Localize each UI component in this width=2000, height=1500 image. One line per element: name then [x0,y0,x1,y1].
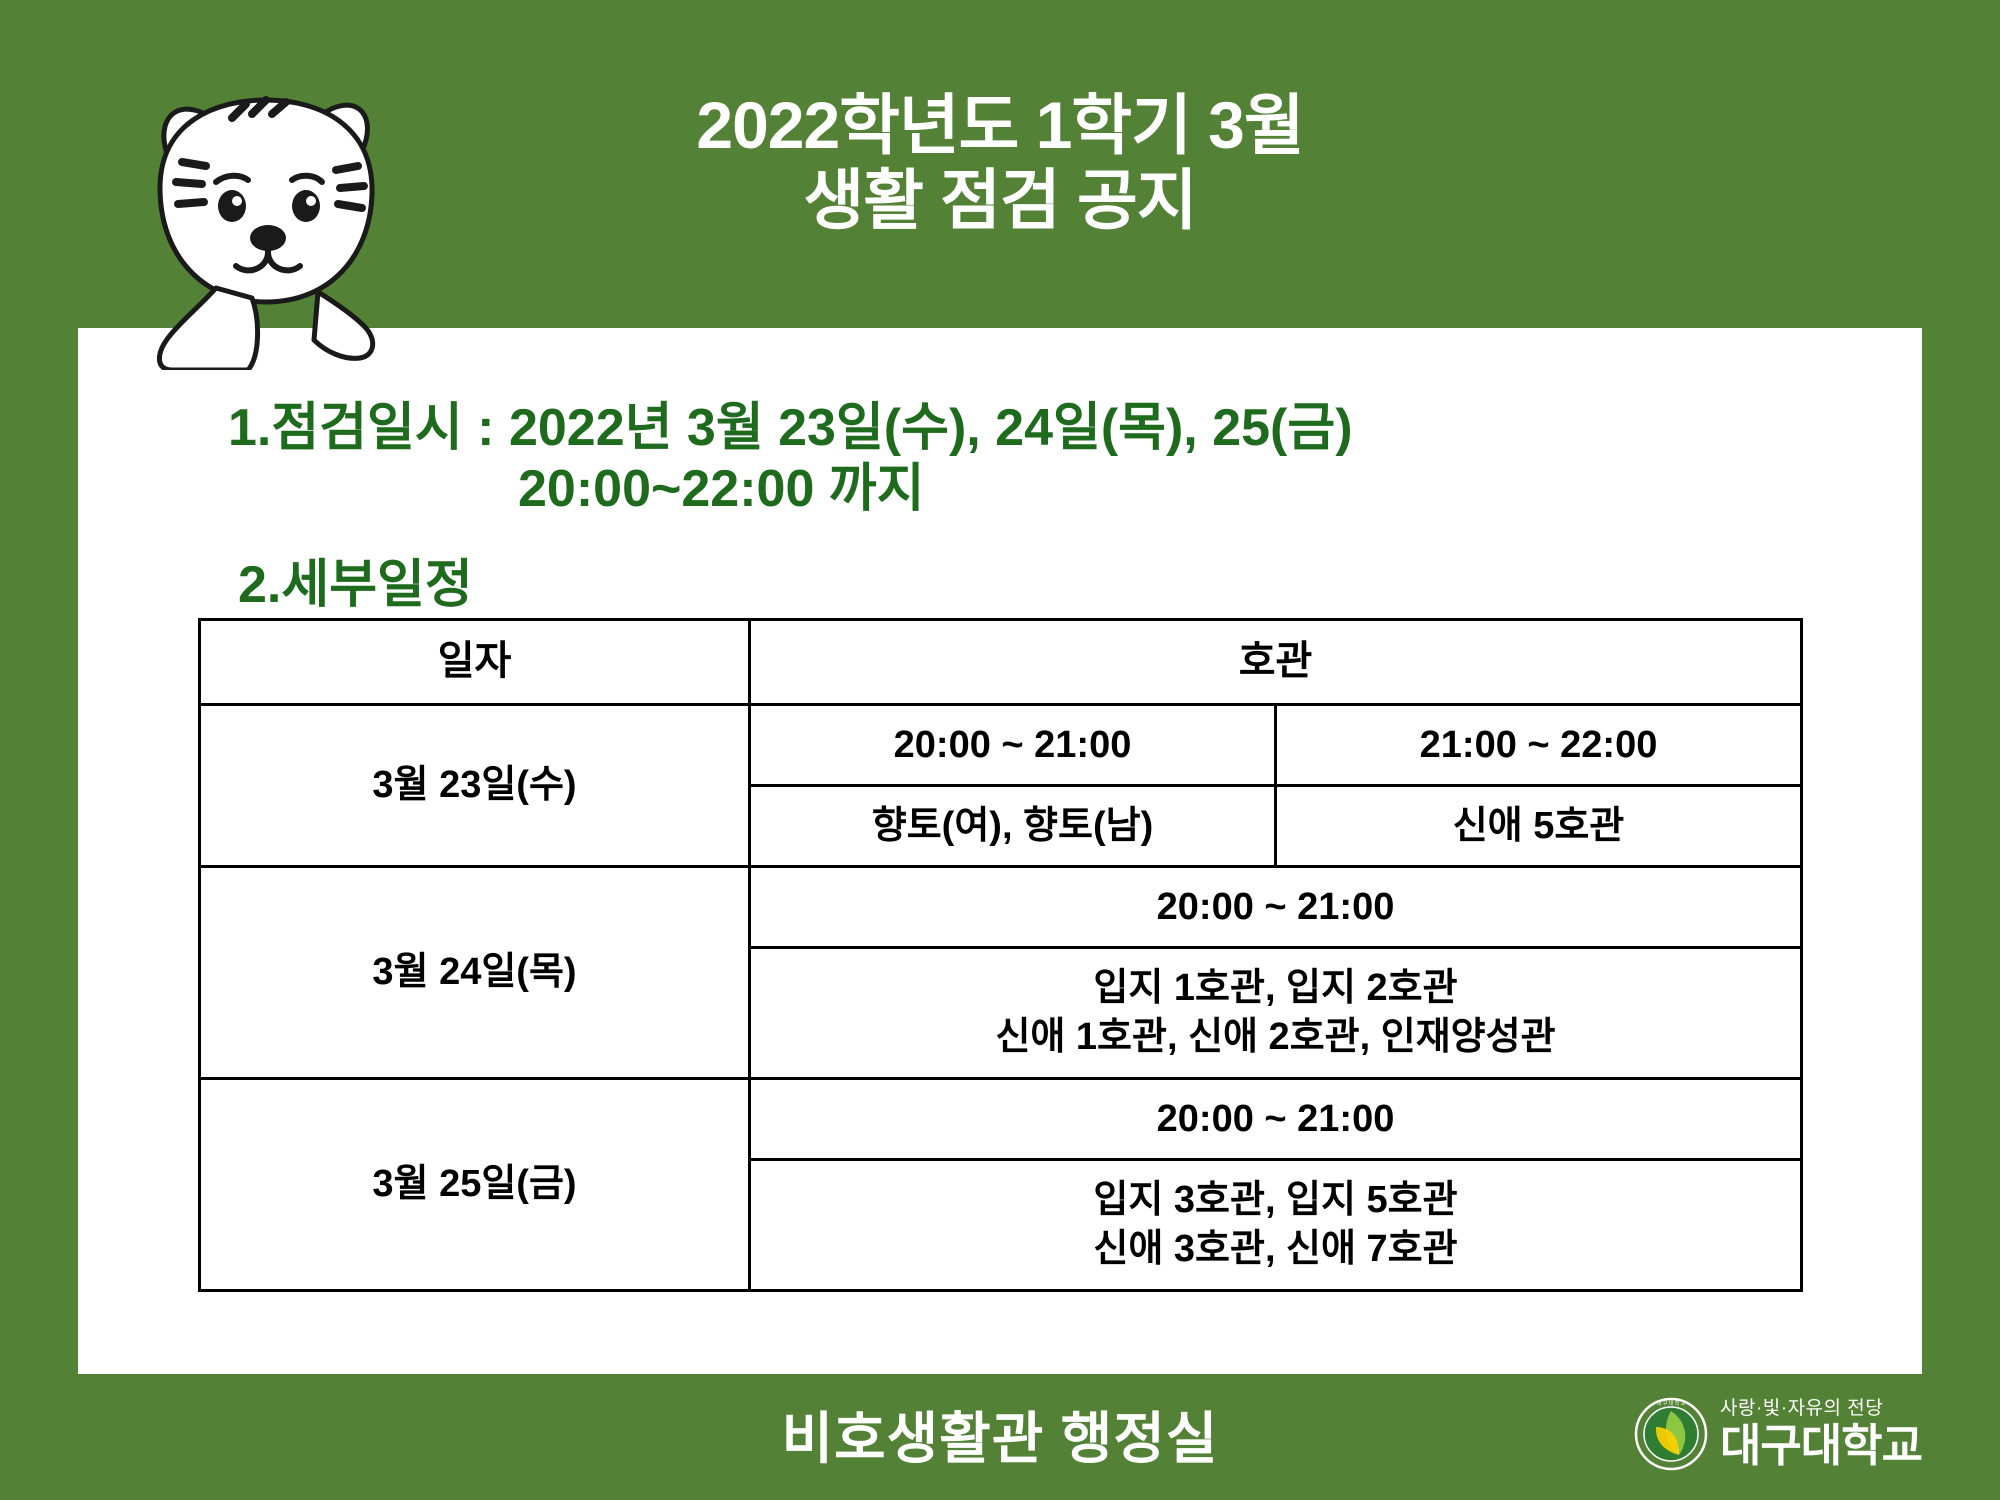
inspection-datetime-line: 1.점검일시 : 2022년 3월 23일(수), 24일(목), 25(금) [228,398,1828,459]
cell-place-0-0: 향토(여), 향토(남) [750,786,1276,867]
brand-name: 대구대학교 [1720,1422,1922,1470]
cell-time-0-0: 20:00 ~ 21:00 [750,705,1276,786]
cell-time-2: 20:00 ~ 21:00 [750,1079,1802,1160]
cell-date-0: 3월 23일(수) [200,705,750,867]
table-row: 3월 24일(목) 20:00 ~ 21:00 [200,867,1802,948]
cell-place-1: 입지 1호관, 입지 2호관 신애 1호관, 신애 2호관, 인재양성관 [750,948,1802,1079]
brand-tagline: 사랑·빛·자유의 전당 [1720,1399,1922,1419]
inspection-time-line: 20:00~22:00 까지 [518,459,1828,520]
table-row: 3월 23일(수) 20:00 ~ 21:00 21:00 ~ 22:00 [200,705,1802,786]
cell-time-0-1: 21:00 ~ 22:00 [1276,705,1802,786]
university-brand: 대 구 대 학 교 사랑·빛·자유의 전당 대구대학교 [1634,1388,1922,1480]
cell-place-0-1: 신애 5호관 [1276,786,1802,867]
table-row: 3월 25일(금) 20:00 ~ 21:00 [200,1079,1802,1160]
svg-text:대 구 대 학 교: 대 구 대 학 교 [1657,1400,1686,1407]
cell-place-2: 입지 3호관, 입지 5호관 신애 3호관, 신애 7호관 [750,1160,1802,1291]
notice-info-block: 1.점검일시 : 2022년 3월 23일(수), 24일(목), 25(금) … [228,398,1828,616]
content-panel: 1.점검일시 : 2022년 3월 23일(수), 24일(목), 25(금) … [78,328,1922,1374]
cell-date-1: 3월 24일(목) [200,867,750,1079]
schedule-table: 일자 호관 3월 23일(수) 20:00 ~ 21:00 21:00 ~ 22… [198,618,1803,1292]
cell-date-2: 3월 25일(금) [200,1079,750,1291]
header-date: 일자 [200,620,750,705]
brand-texts: 사랑·빛·자유의 전당 대구대학교 [1720,1399,1922,1470]
cell-time-1: 20:00 ~ 21:00 [750,867,1802,948]
tiger-mascot-icon [120,70,430,370]
detailed-schedule-heading: 2.세부일정 [238,555,1828,616]
header-building: 호관 [750,620,1802,705]
daegu-university-emblem-icon: 대 구 대 학 교 [1634,1397,1708,1471]
table-header-row: 일자 호관 [200,620,1802,705]
